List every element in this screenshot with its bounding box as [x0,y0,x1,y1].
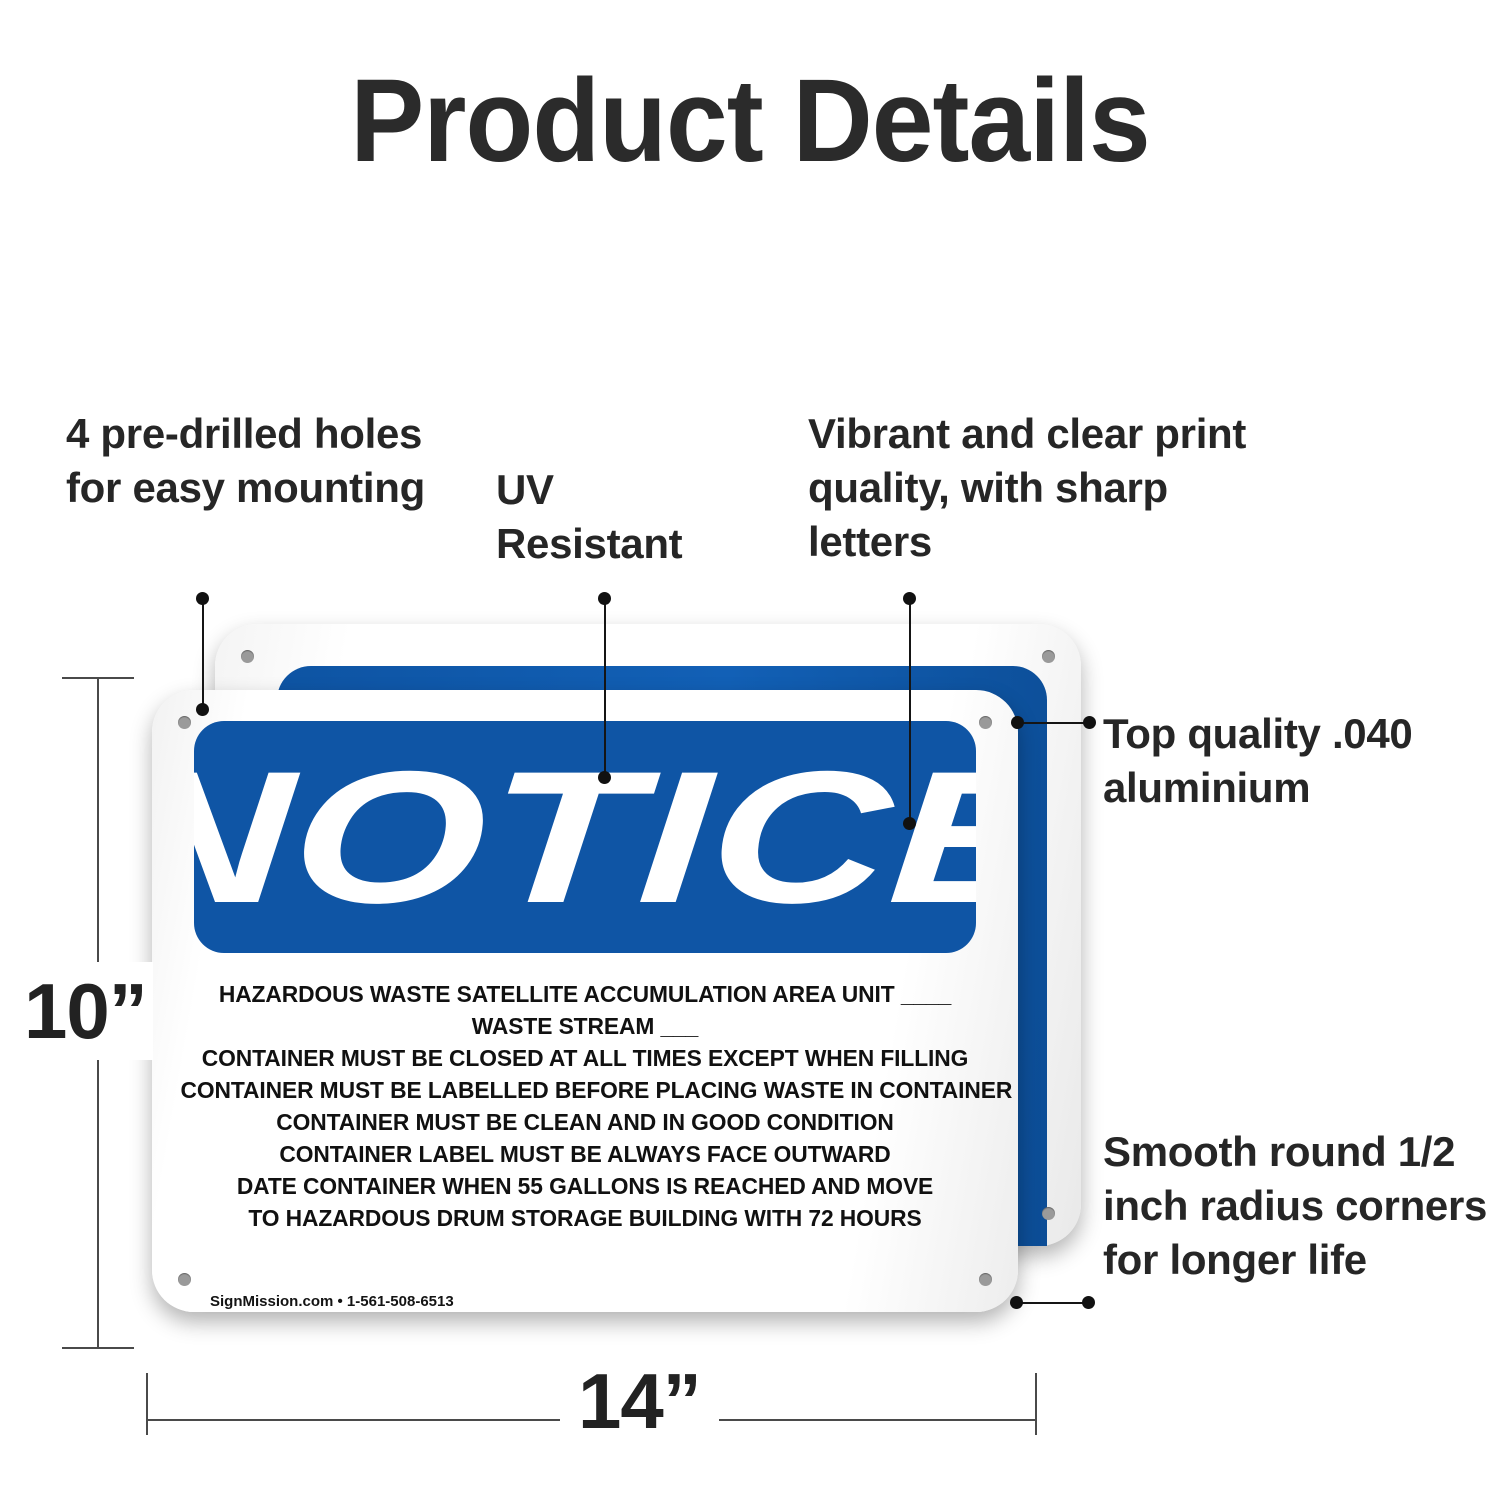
leader-dot-corners-end [1082,1296,1095,1309]
leader-line-print [909,598,911,824]
leader-dot-holes-start [196,592,209,605]
callout-uv-resistant: UV Resistant [496,463,746,571]
leader-line-uv [604,598,606,778]
sign-body-text: HAZARDOUS WASTE SATELLITE ACCUMULATION A… [168,978,1002,1234]
sign-body-line: CONTAINER MUST BE CLOSED AT ALL TIMES EX… [181,1042,990,1074]
mounting-hole-icon [178,716,191,729]
dimension-label-width: 14” [560,1362,719,1440]
leader-line-aluminium [1017,722,1089,724]
sign-body-line: CONTAINER LABEL MUST BE ALWAYS FACE OUTW… [181,1138,990,1170]
dimension-cap-bottom [62,1347,134,1349]
leader-dot-aluminium-start [1011,716,1024,729]
notice-header-text: NOTICE [194,743,976,931]
sign-body-line: TO HAZARDOUS DRUM STORAGE BUILDING WITH … [181,1202,990,1234]
leader-dot-corners-start [1010,1296,1023,1309]
leader-dot-holes-end [196,703,209,716]
sign-body-line: CONTAINER MUST BE CLEAN AND IN GOOD COND… [181,1106,990,1138]
leader-dot-uv-end [598,771,611,784]
dimension-cap-left [146,1373,148,1435]
sign-footer-text: SignMission.com • 1-561-508-6513 [210,1293,454,1311]
notice-header-banner: NOTICE [194,721,976,953]
sign-body-line: DATE CONTAINER WHEN 55 GALLONS IS REACHE… [181,1170,990,1202]
infographic-canvas: Product Details NOTICE HAZARDOUS WASTE S… [0,0,1500,1500]
sign-body-line: HAZARDOUS WASTE SATELLITE ACCUMULATION A… [181,978,990,1010]
mounting-hole-icon [979,1273,992,1286]
leader-dot-print-end [903,817,916,830]
leader-dot-aluminium-end [1083,716,1096,729]
callout-pre-drilled-holes: 4 pre-drilled holes for easy mounting [66,407,446,515]
sign-front: NOTICE HAZARDOUS WASTE SATELLITE ACCUMUL… [152,690,1018,1312]
sign-body-line: WASTE STREAM ___ [181,1010,990,1042]
callout-rounded-corners: Smooth round 1/2 inch radius corners for… [1103,1125,1500,1287]
page-title: Product Details [45,62,1455,180]
mounting-hole-icon [241,650,254,663]
callout-aluminium: Top quality .040 aluminium [1103,707,1500,815]
mounting-hole-icon [1042,1207,1055,1220]
dimension-cap-right [1035,1373,1037,1435]
sign-body-line: CONTAINER MUST BE LABELLED BEFORE PLACIN… [181,1074,990,1106]
leader-dot-uv-start [598,592,611,605]
callout-print-quality: Vibrant and clear print quality, with sh… [808,407,1278,569]
mounting-hole-icon [178,1273,191,1286]
leader-line-corners [1016,1302,1088,1304]
leader-dot-print-start [903,592,916,605]
leader-line-holes [202,598,204,710]
mounting-hole-icon [1042,650,1055,663]
dimension-label-height: 10” [18,962,153,1060]
mounting-hole-icon [979,716,992,729]
